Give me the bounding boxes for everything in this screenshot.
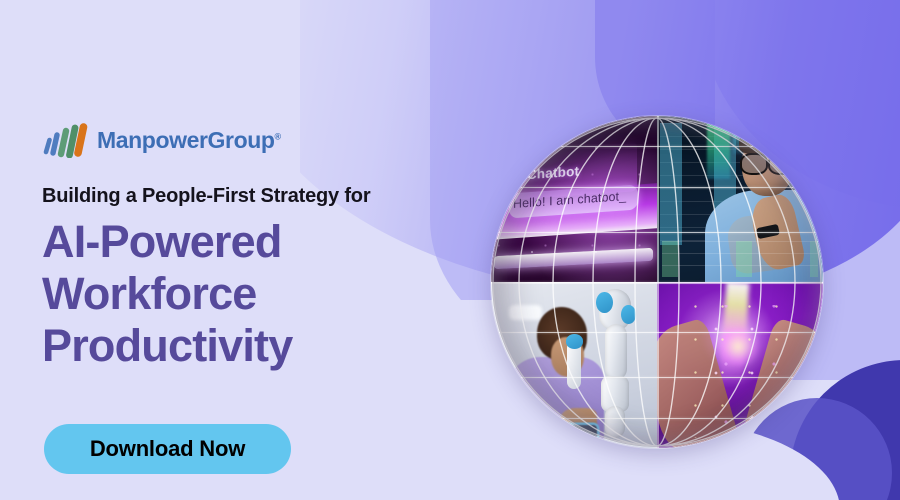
headline-line-1: AI-Powered	[42, 216, 292, 268]
globe-graphic: AI Chatbot Hello! I am chatbot_	[491, 116, 823, 448]
robot-arm-joint-2	[621, 305, 636, 325]
analyst-hair	[739, 128, 796, 155]
download-now-button[interactable]: Download Now	[44, 424, 291, 474]
eyebrow-text: Building a People-First Strategy for	[42, 185, 370, 208]
robot-arm-joint-1	[596, 292, 613, 313]
brand-logo[interactable]: ManpowerGroup®	[42, 122, 281, 158]
globe-quadrant-divider-horizontal	[491, 282, 823, 284]
analyst-glasses	[740, 153, 796, 171]
globe-quadrant-analyst	[657, 116, 823, 282]
content-column: ManpowerGroup® Building a People-First S…	[42, 0, 472, 500]
globe-quadrant-student-robot	[491, 282, 657, 448]
globe-quadrant-hands-light	[657, 282, 823, 448]
robotic-arm	[567, 285, 657, 448]
robot-arm-segment-2	[605, 324, 627, 379]
brand-wordmark: ManpowerGroup®	[97, 127, 281, 154]
ceiling-light	[509, 305, 542, 320]
brand-trademark-symbol: ®	[275, 131, 281, 141]
data-rows-overlay	[662, 241, 818, 278]
headline-line-3: Productivity	[42, 320, 292, 372]
globe-collage: AI Chatbot Hello! I am chatbot_	[491, 116, 823, 448]
manpowergroup-bars-logo-icon	[42, 122, 88, 158]
page-title: AI-Powered Workforce Productivity	[42, 216, 292, 373]
robot-arm-left-ring	[566, 334, 584, 349]
marketing-banner: AI Chatbot Hello! I am chatbot_	[0, 0, 900, 500]
robot-arm-segment-4	[605, 406, 625, 439]
headline-line-2: Workforce	[42, 268, 292, 320]
globe-quadrant-ai-chatbot: AI Chatbot Hello! I am chatbot_	[491, 116, 657, 282]
brand-wordmark-text: ManpowerGroup	[97, 127, 275, 153]
light-particles	[694, 305, 787, 438]
